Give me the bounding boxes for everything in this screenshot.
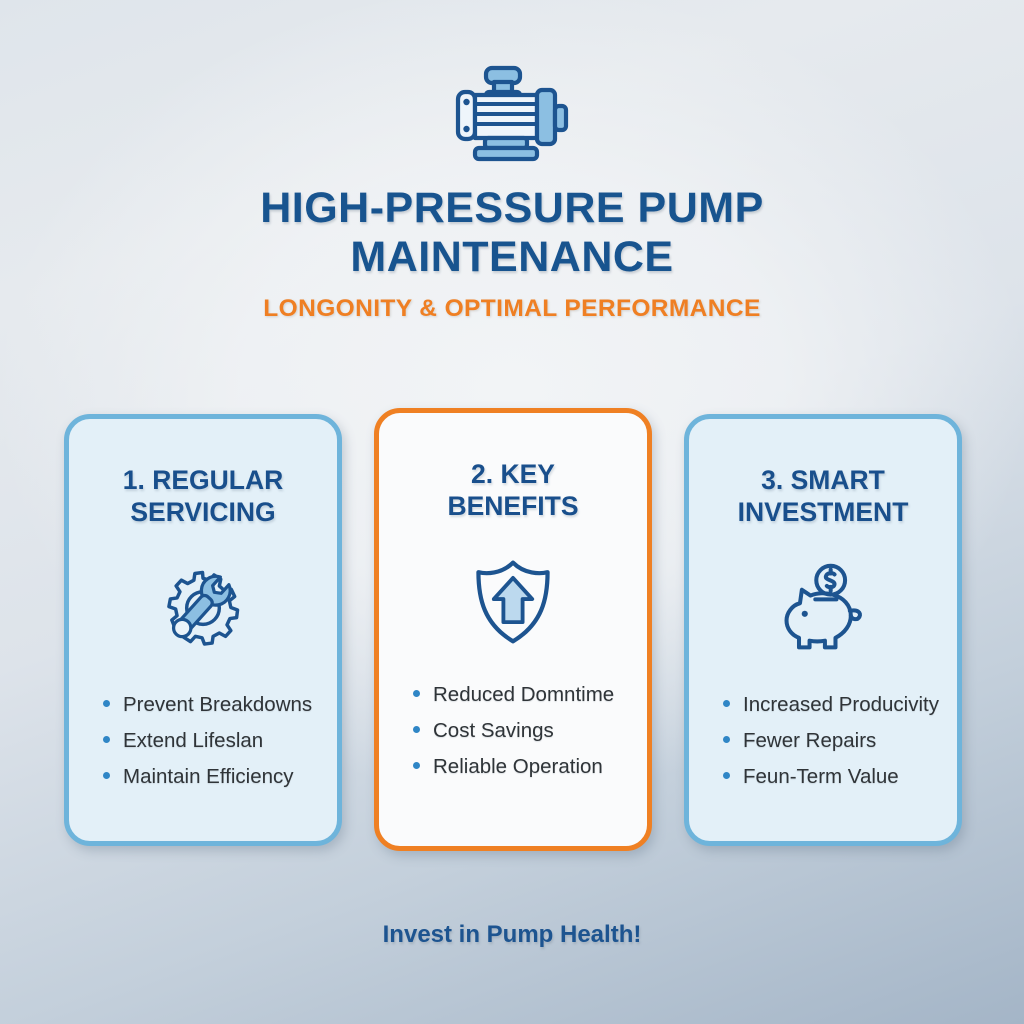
gear-wrench-icon	[155, 561, 251, 657]
card-smart-investment[interactable]: 3. SMART INVESTMENT Increa	[684, 414, 962, 846]
bullet-dot-icon	[723, 736, 730, 743]
bullet-dot-icon	[413, 726, 420, 733]
infographic-canvas: HIGH-PRESSURE PUMP MAINTENANCE LONGONITY…	[0, 0, 1024, 1024]
bullet-list: Reduced Domntime Cost Savings Reliable O…	[379, 683, 647, 791]
page-title: HIGH-PRESSURE PUMP MAINTENANCE	[0, 184, 1024, 281]
card-title-line-1: 3. SMART	[708, 465, 938, 497]
bullet-dot-icon	[103, 736, 110, 743]
card-list: 1. REGULAR SERVICING Prevent Breakdowns	[0, 408, 1024, 848]
bullet-text: Reliable Operation	[433, 755, 603, 779]
bullet-text: Cost Savings	[433, 719, 554, 743]
card-title-line-2: BENEFITS	[398, 491, 628, 523]
list-item: Reliable Operation	[413, 755, 647, 779]
card-title-line-2: SERVICING	[88, 497, 318, 529]
bullet-dot-icon	[723, 700, 730, 707]
card-title-line-2: INVESTMENT	[708, 497, 938, 529]
bullet-text: Maintain Efficiency	[123, 765, 294, 789]
bullet-dot-icon	[723, 772, 730, 779]
list-item: Maintain Efficiency	[103, 765, 337, 789]
bullet-list: Prevent Breakdowns Extend Lifeslan Maint…	[69, 693, 337, 801]
page-title-line-1: HIGH-PRESSURE PUMP	[0, 184, 1024, 233]
card-title: 1. REGULAR SERVICING	[88, 465, 318, 529]
bullet-dot-icon	[103, 772, 110, 779]
card-regular-servicing[interactable]: 1. REGULAR SERVICING Prevent Breakdowns	[64, 414, 342, 846]
list-item: Cost Savings	[413, 719, 647, 743]
footer-call-to-action: Invest in Pump Health!	[0, 921, 1024, 949]
page-subtitle: LONGONITY & OPTIMAL PERFORMANCE	[0, 295, 1024, 323]
bullet-text: Feun-Term Value	[743, 765, 899, 789]
bullet-text: Extend Lifeslan	[123, 729, 263, 753]
list-item: Reduced Domntime	[413, 683, 647, 707]
bullet-dot-icon	[413, 762, 420, 769]
bullet-dot-icon	[103, 700, 110, 707]
pump-motor-icon	[442, 62, 582, 162]
page-title-line-2: MAINTENANCE	[0, 233, 1024, 282]
list-item: Feun-Term Value	[723, 765, 957, 789]
list-item: Prevent Breakdowns	[103, 693, 337, 717]
bullet-text: Prevent Breakdowns	[123, 693, 312, 717]
card-title-line-1: 2. KEY	[398, 459, 628, 491]
card-title-line-1: 1. REGULAR	[88, 465, 318, 497]
shield-up-arrow-icon	[465, 553, 561, 649]
bullet-text: Reduced Domntime	[433, 683, 614, 707]
bullet-dot-icon	[413, 690, 420, 697]
card-title: 2. KEY BENEFITS	[398, 459, 628, 523]
bullet-text: Fewer Repairs	[743, 729, 876, 753]
piggy-bank-coin-icon	[775, 561, 871, 657]
bullet-text: Increased Producivity	[743, 693, 939, 717]
card-title: 3. SMART INVESTMENT	[708, 465, 938, 529]
bullet-list: Increased Producivity Fewer Repairs Feun…	[689, 693, 957, 801]
header: HIGH-PRESSURE PUMP MAINTENANCE LONGONITY…	[0, 0, 1024, 323]
list-item: Extend Lifeslan	[103, 729, 337, 753]
card-key-benefits[interactable]: 2. KEY BENEFITS Reduced Domntime Cost Sa…	[374, 408, 652, 851]
list-item: Fewer Repairs	[723, 729, 957, 753]
list-item: Increased Producivity	[723, 693, 957, 717]
